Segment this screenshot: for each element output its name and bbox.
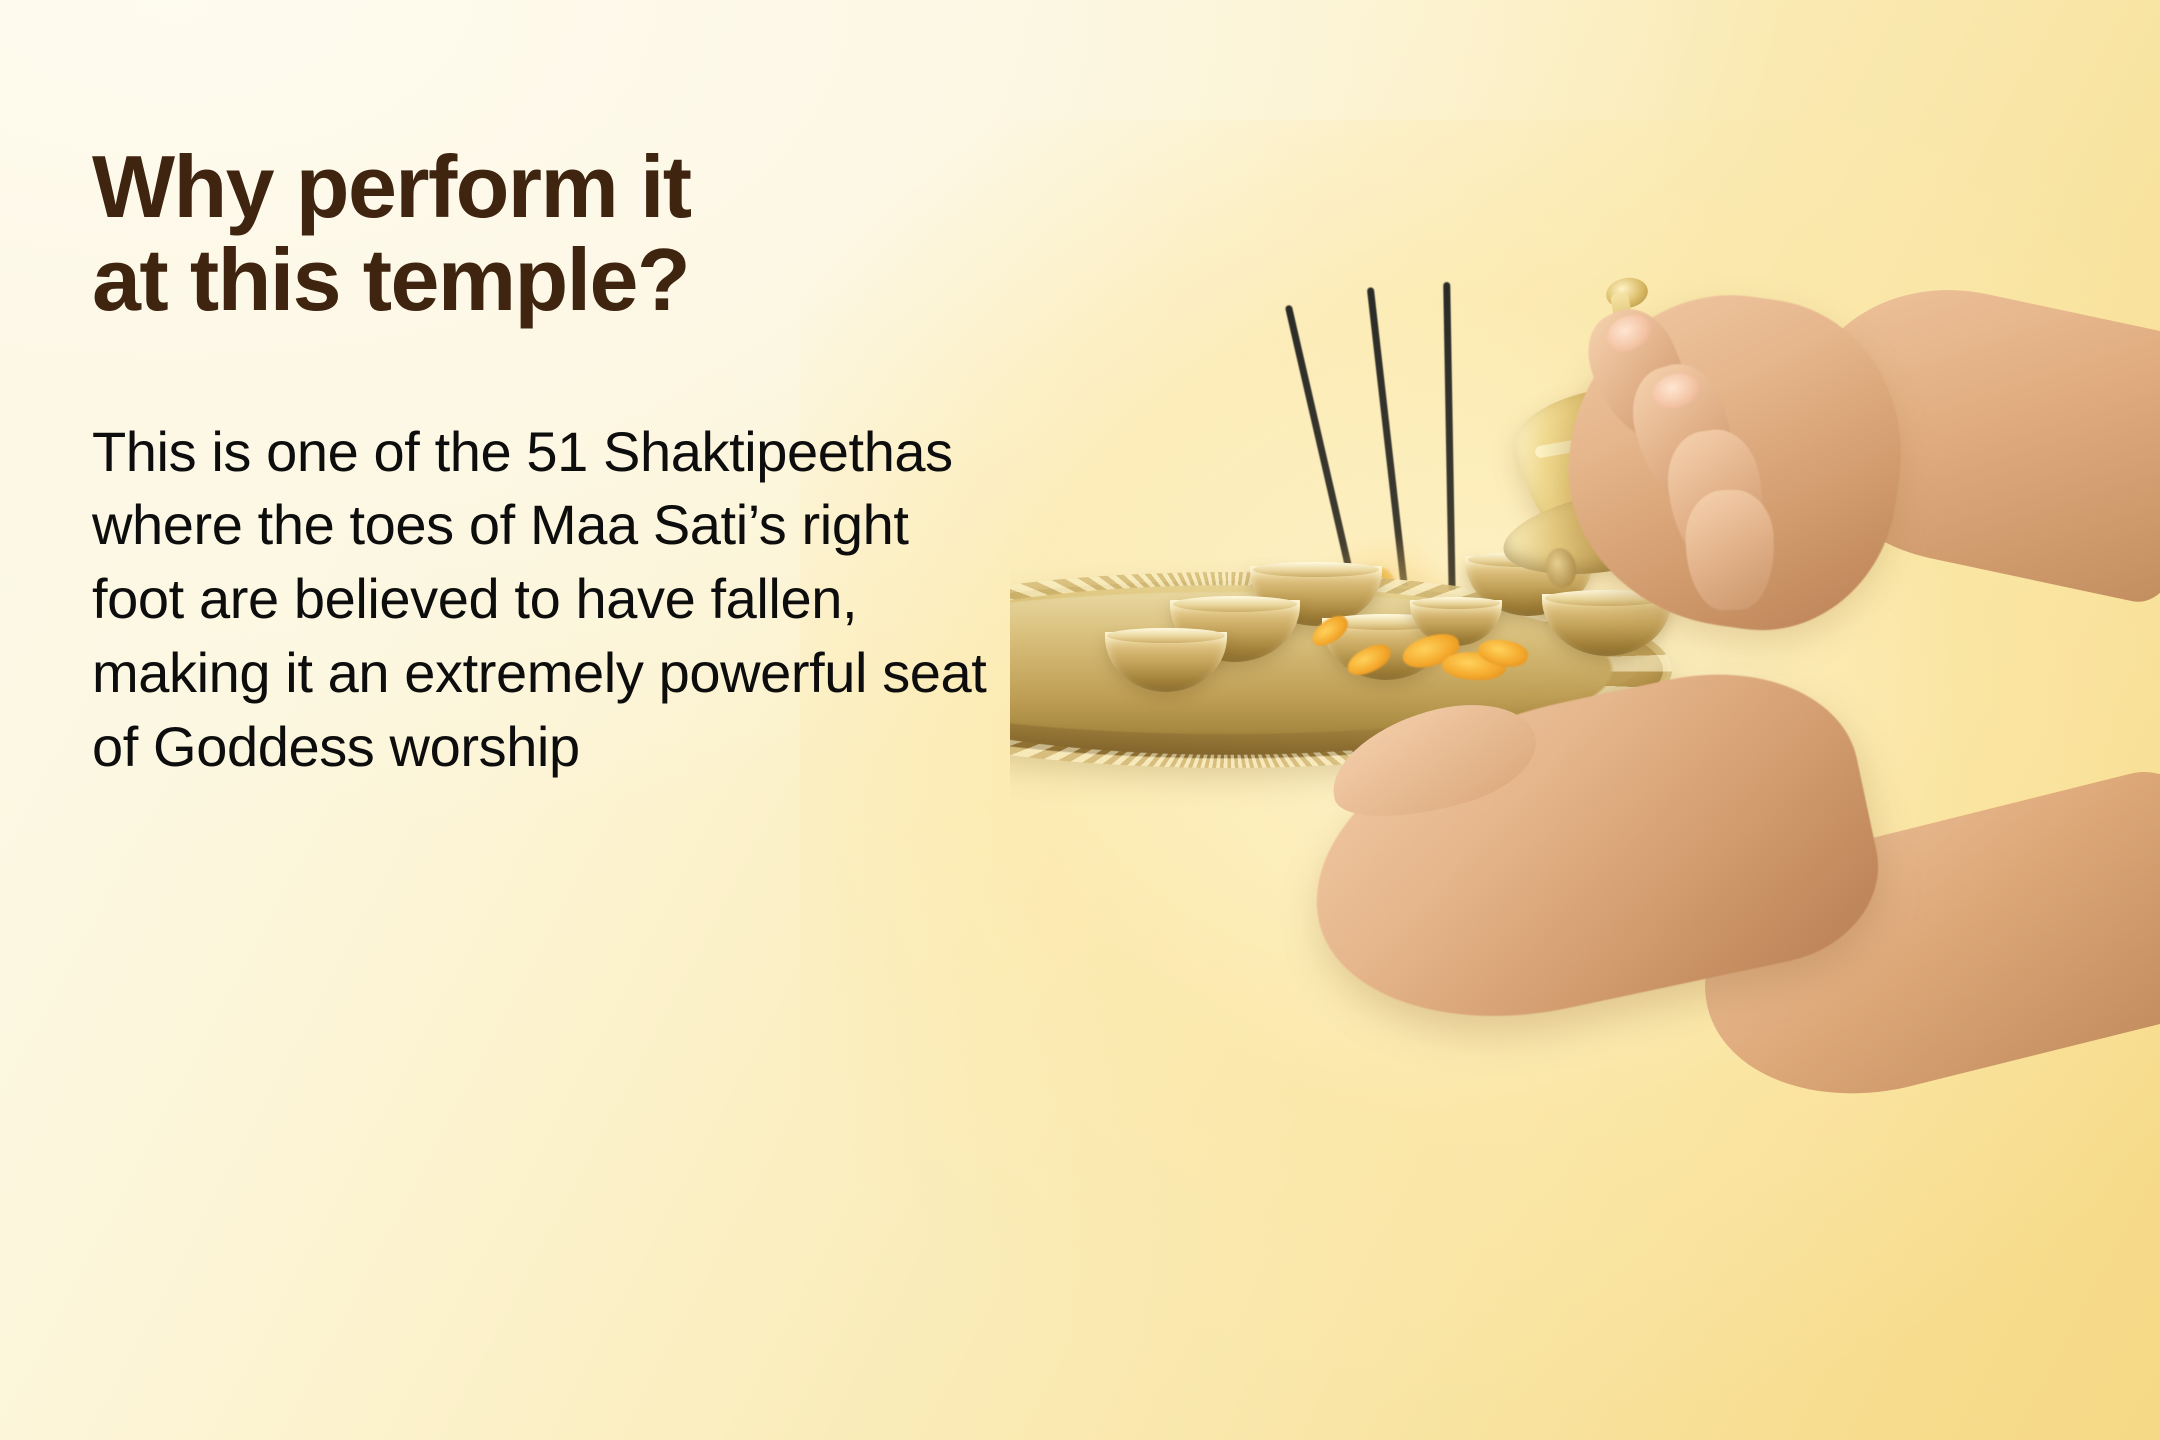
finger	[1684, 489, 1776, 612]
body-paragraph: This is one of the 51 Shaktipeethas wher…	[92, 415, 992, 785]
text-column: Why perform it at this temple? This is o…	[92, 140, 1052, 784]
info-card: Why perform it at this temple? This is o…	[0, 0, 2160, 1440]
puja-photo	[1010, 0, 2160, 1440]
page-title: Why perform it at this temple?	[92, 140, 1052, 327]
